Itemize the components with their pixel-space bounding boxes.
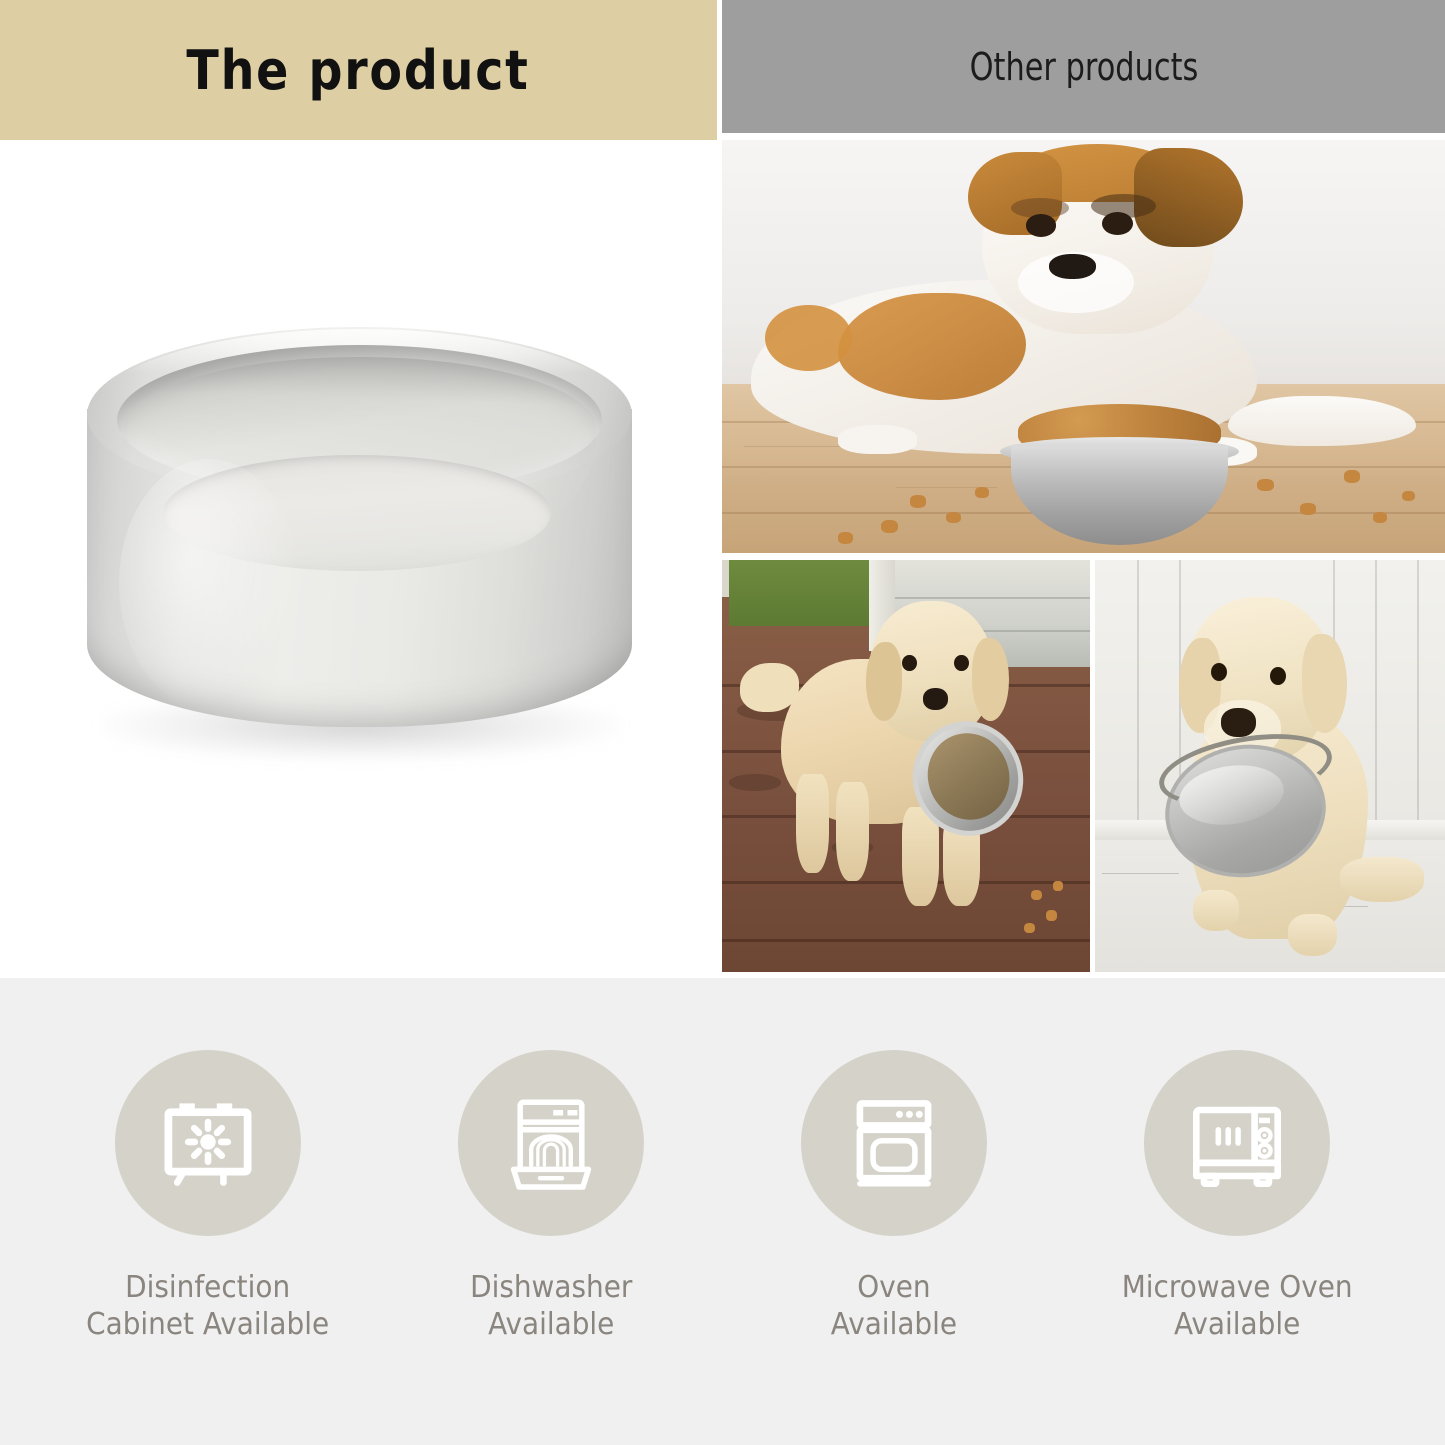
- oven-icon: [839, 1088, 949, 1198]
- photo-golden-puppy-deck: [722, 560, 1090, 972]
- dishwasher-icon: [496, 1088, 606, 1198]
- microwave-oven-icon: [1182, 1088, 1292, 1198]
- photo2-grass: [729, 560, 876, 626]
- header-left-title: The product: [187, 39, 530, 102]
- feature-icon-circle-3: [801, 1050, 987, 1236]
- puppy2-ear-left: [866, 642, 903, 720]
- terrier-patch: [838, 293, 1026, 400]
- product-image-pane: [0, 140, 717, 978]
- feature-disinfection-cabinet: Disinfection Cabinet Available: [43, 1050, 373, 1343]
- puppy2-nose: [923, 688, 949, 710]
- product-infographic: The product Other products: [0, 0, 1445, 1445]
- bowl-sheen: [119, 459, 299, 709]
- feature-label-1: Disinfection Cabinet Available: [86, 1270, 329, 1343]
- terrier-eye-left: [1026, 214, 1056, 236]
- puppy2-ear-right: [972, 638, 1009, 720]
- feature-label-2: Dishwasher Available: [470, 1270, 632, 1343]
- terrier-paw-left: [838, 425, 918, 454]
- puppy2-eye-left: [902, 655, 917, 671]
- puppy3-nose: [1221, 708, 1256, 737]
- other-products-photo-grid: [722, 140, 1445, 972]
- puppy3-ear-right: [1302, 634, 1348, 733]
- photo-lab-puppy-tile: [1095, 560, 1445, 972]
- feature-oven: Oven Available: [729, 1050, 1059, 1343]
- feature-icon-circle-4: [1144, 1050, 1330, 1236]
- features-band: Disinfection Cabinet Available: [0, 978, 1445, 1445]
- puppy3-eye-left: [1211, 663, 1227, 681]
- header-the-product: The product: [0, 0, 717, 140]
- ceramic-pet-bowl-image: [59, 309, 659, 809]
- header-right-title: Other products: [969, 45, 1198, 89]
- terrier-patch-2: [765, 305, 852, 371]
- feature-microwave-oven: Microwave Oven Available: [1072, 1050, 1402, 1343]
- header-other-products: Other products: [722, 0, 1445, 133]
- disinfection-cabinet-icon: [153, 1088, 263, 1198]
- feature-label-4: Microwave Oven Available: [1122, 1270, 1353, 1343]
- feature-icon-circle-2: [458, 1050, 644, 1236]
- feature-icon-circle-1: [115, 1050, 301, 1236]
- photo-terrier-eating: [722, 140, 1445, 553]
- feature-label-3: Oven Available: [831, 1270, 957, 1343]
- puppy2-eye-right: [954, 655, 969, 671]
- feature-dishwasher: Dishwasher Available: [386, 1050, 716, 1343]
- terrier-nose: [1049, 254, 1097, 280]
